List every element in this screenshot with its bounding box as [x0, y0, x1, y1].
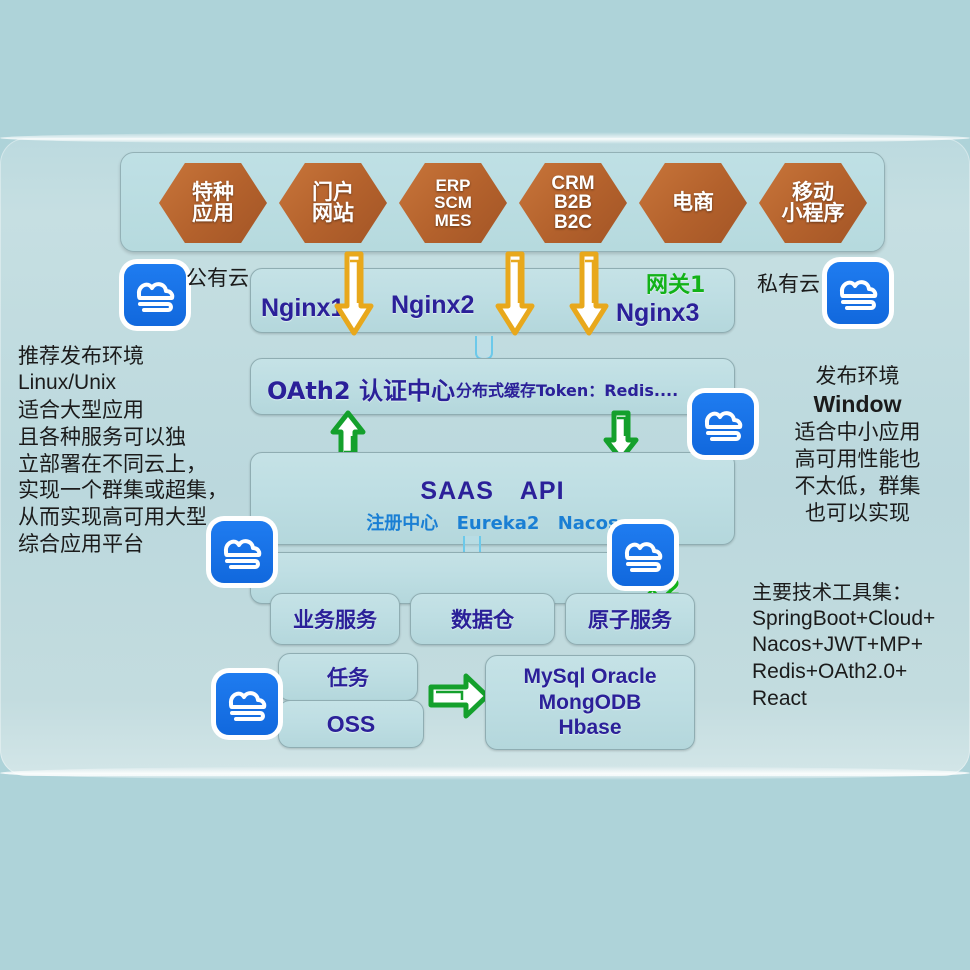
- cloud-icon: [827, 262, 889, 324]
- note-line: React: [752, 686, 967, 713]
- hex-line: 应用: [192, 203, 234, 224]
- arrow-right-green-icon: [428, 672, 490, 725]
- note-line: 发布环境: [755, 363, 960, 390]
- arrow-down-gold-icon: [334, 251, 374, 342]
- hex-line: ERP: [434, 177, 472, 194]
- cloud-icon: [124, 264, 186, 326]
- service-atomic[interactable]: 原子服务: [565, 593, 695, 645]
- cloud-icon: [692, 393, 754, 455]
- registry-label: 注册中心: [360, 513, 444, 534]
- service-label: 数据仓: [451, 604, 514, 634]
- hex-line: B2B: [551, 193, 594, 212]
- private-cloud-label: 私有云: [757, 268, 820, 298]
- connector-arrow: [475, 336, 493, 360]
- note-line: 从而实现高可用大型: [18, 504, 233, 531]
- nginx2-label: Nginx2: [391, 291, 474, 320]
- hex-line: SCM: [434, 194, 472, 211]
- database-label: MySql Oracle MongODB Hbase: [523, 664, 656, 741]
- service-label: 业务服务: [293, 604, 377, 634]
- arrow-down-gold-icon: [495, 251, 535, 342]
- hex-line: B2C: [551, 213, 594, 232]
- hex-line: 门户: [312, 182, 354, 203]
- oauth2-subtitle: 分布式缓存Token：Redis....: [456, 377, 678, 401]
- oauth2-title: OAth2 认证中心: [267, 371, 455, 406]
- hex-line: 网站: [312, 203, 354, 224]
- arrow-down-gold-icon: [569, 251, 609, 342]
- diagram-canvas: 特种应用 门户网站 ERPSCMMES CRMB2BB2C 电商 移动小程序 N…: [0, 0, 970, 970]
- db-line: MySql Oracle: [523, 664, 656, 690]
- note-line: 适合大型应用: [18, 397, 233, 424]
- note-line: SpringBoot+Cloud+: [752, 606, 967, 633]
- note-line: Window: [755, 390, 960, 419]
- gateway1-label: 网关1: [646, 267, 705, 299]
- note-line: 主要技术工具集：: [752, 580, 967, 606]
- note-line: 适合中小应用: [755, 419, 960, 446]
- service-oss[interactable]: OSS: [278, 700, 424, 748]
- hex-erp-scm-mes[interactable]: ERPSCMMES: [399, 163, 507, 243]
- note-line: Linux/Unix: [18, 370, 233, 397]
- note-line: Redis+OAth2.0+: [752, 659, 967, 686]
- note-line: 立部署在不同云上，: [18, 451, 233, 478]
- hex-portal-site[interactable]: 门户网站: [279, 163, 387, 243]
- service-label: 原子服务: [588, 604, 672, 634]
- hex-line: CRM: [551, 174, 594, 193]
- public-cloud-label: 公有云: [186, 262, 249, 292]
- cloud-icon: [216, 673, 278, 735]
- note-line: 实现一个群集或超集，: [18, 477, 233, 504]
- cloud-icon: [612, 524, 674, 586]
- note-right: 发布环境 Window 适合中小应用 高可用性能也 不太低，群集 也可以实现: [755, 363, 960, 527]
- note-line: 推荐发布环境: [18, 343, 233, 370]
- nginx1-label: Nginx1: [261, 294, 344, 323]
- hex-special-app[interactable]: 特种应用: [159, 163, 267, 243]
- database-box[interactable]: MySql Oracle MongODB Hbase: [485, 655, 695, 750]
- hex-line: 小程序: [782, 203, 845, 224]
- hex-line: MES: [434, 212, 472, 229]
- hex-crm-b2b-b2c[interactable]: CRMB2BB2C: [519, 163, 627, 243]
- note-line: Nacos+JWT+MP+: [752, 632, 967, 659]
- hex-line: 特种: [192, 182, 234, 203]
- note-line: 且各种服务可以独: [18, 424, 233, 451]
- note-line: 综合应用平台: [18, 531, 233, 558]
- application-layer-row: 特种应用 门户网站 ERPSCMMES CRMB2BB2C 电商 移动小程序: [120, 152, 885, 252]
- eureka-label: Eureka2: [451, 513, 546, 534]
- note-line: 也可以实现: [755, 500, 960, 527]
- note-line: 不太低，群集: [755, 473, 960, 500]
- service-business[interactable]: 业务服务: [270, 593, 400, 645]
- hex-ecommerce[interactable]: 电商: [639, 163, 747, 243]
- service-data-warehouse[interactable]: 数据仓: [410, 593, 555, 645]
- nginx3-label: Nginx3: [616, 299, 699, 328]
- saas-api-title: SAAS API: [251, 471, 734, 507]
- service-label: 任务: [327, 662, 369, 692]
- service-task[interactable]: 任务: [278, 653, 418, 701]
- oauth2-auth-box: OAth2 认证中心 分布式缓存Token：Redis....: [250, 358, 735, 415]
- note-line: 高可用性能也: [755, 446, 960, 473]
- gateway-nginx-box: Nginx1 Nginx2 Nginx3 网关1: [250, 268, 735, 333]
- db-line: MongODB: [523, 690, 656, 716]
- note-left: 推荐发布环境 Linux/Unix 适合大型应用 且各种服务可以独 立部署在不同…: [18, 343, 233, 558]
- db-line: Hbase: [523, 715, 656, 741]
- hex-line: 电商: [672, 192, 714, 213]
- hex-line: 移动: [782, 182, 845, 203]
- hex-mobile-miniapp[interactable]: 移动小程序: [759, 163, 867, 243]
- service-label: OSS: [327, 711, 376, 738]
- note-tech-stack: 主要技术工具集： SpringBoot+Cloud+ Nacos+JWT+MP+…: [752, 580, 967, 713]
